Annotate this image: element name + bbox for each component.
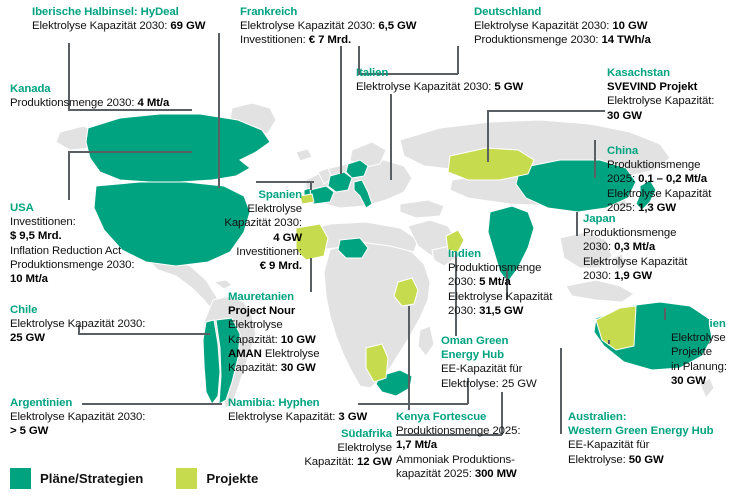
callout-title-spanien: Spanien (170, 188, 302, 202)
leader-iberia (218, 33, 220, 188)
callout-italien: Italien Elektrolyse Kapazität 2030: 5 GW (356, 66, 523, 94)
region-spain-lime (300, 194, 314, 204)
leader-japan (576, 212, 578, 236)
leader-usa (68, 152, 70, 200)
leader-australien-west (560, 348, 562, 434)
callout-line: Elektrolyse Kapazität 2030: (10, 317, 145, 331)
callout-line: 2030: 0,3 Mt/a (583, 240, 687, 254)
leader-italien (390, 94, 392, 180)
callout-kanada: Kanada Produktionsmenge 2030: 4 Mt/a (10, 82, 169, 110)
callout-namibia: Namibia: Hyphen Elektrolyse Kapazität: 3… (228, 396, 367, 424)
leader-spanien (310, 182, 312, 190)
callout-line: Elektrolyse (170, 202, 302, 216)
legend-item-projects: Projekte (176, 468, 282, 489)
callout-line: 2025: 0,1 – 0,2 Mt/a (607, 172, 711, 186)
callout-line: 25 GW (10, 331, 145, 345)
callout-title-iberia: Iberische Halbinsel: HyDeal (32, 5, 205, 19)
callout-argentinien: Argentinien Elektrolyse Kapazität 2030: … (10, 396, 145, 439)
callout-line: 30 GW (671, 374, 727, 388)
callout-usa: USA Investitionen: $ 9,5 Mrd. Inflation … (10, 201, 134, 286)
callout-line: Ammoniak Produktions- (396, 453, 520, 467)
world-map-infographic: Iberische Halbinsel: HyDeal Elektrolyse … (0, 0, 731, 496)
callout-kasachstan: Kasachstan SVEVIND Projekt Elektrolyse K… (607, 66, 714, 123)
callout-title-mauretanien: Mauretanien (228, 290, 319, 304)
callout-line: Elektrolyse: 50 GW (568, 453, 714, 467)
callout-line: EE-Kapazität für (568, 438, 714, 452)
callout-title-australien-ost: Australien (671, 317, 727, 331)
callout-line: Produktionsmenge (583, 226, 687, 240)
leader-usa-h (68, 151, 192, 153)
callout-oman: Oman Green Energy Hub EE-Kapazität für E… (441, 334, 537, 391)
callout-line: EE-Kapazität für (441, 362, 537, 376)
legend: Pläne/Strategien Projekte (10, 468, 282, 489)
callout-line: Elektrolyse Kapazität: 3 GW (228, 410, 367, 424)
leader-australien-ost (664, 308, 666, 320)
callout-line: 1,7 Mt/a (396, 438, 520, 452)
legend-label-plans: Pläne/Strategien (40, 471, 143, 486)
callout-line: AMAN Elektrolyse (228, 347, 319, 361)
callout-chile: Chile Elektrolyse Kapazität 2030: 25 GW (10, 303, 145, 346)
callout-line: Kapazität: 30 GW (228, 361, 319, 375)
callout-line: $ 9,5 Mrd. (10, 229, 134, 243)
legend-label-projects: Projekte (206, 471, 258, 486)
callout-line: Elektrolyse Kapazität (607, 187, 711, 201)
callout-line: Elektrolyse Kapazität 2030: 5 GW (356, 80, 523, 94)
callout-china: China Produktionsmenge 2025: 0,1 – 0,2 M… (607, 144, 711, 215)
callout-line: Elektrolyse Kapazität: (607, 94, 714, 108)
callout-title-suedafrika: Südafrika (250, 427, 392, 441)
callout-title-italien: Italien (356, 66, 523, 80)
callout-line: Produktionsmenge (448, 261, 552, 275)
leader-namibia (358, 403, 468, 405)
callout-title-kasachstan: Kasachstan (607, 66, 714, 80)
callout-line: Inflation Reduction Act (10, 244, 134, 258)
leader-kenya (408, 306, 410, 410)
callout-title-deutschland: Deutschland (474, 5, 651, 19)
callout-title-oman: Oman Green (441, 334, 537, 348)
callout-frankreich: Frankreich Elektrolyse Kapazität 2030: 6… (240, 5, 416, 48)
callout-line: 2030: 31,5 GW (448, 304, 552, 318)
callout-deutschland: Deutschland Elektrolyse Kapazität 2030: … (474, 5, 651, 48)
callout-line: 2030: 5 Mt/a (448, 275, 552, 289)
callout-title-frankreich: Frankreich (240, 5, 416, 19)
callout-line: 2030: 1,9 GW (583, 269, 687, 283)
callout-line: kapazität 2025: 300 MW (396, 467, 520, 481)
callout-line: Elektrolyse (250, 441, 392, 455)
country-canada (86, 114, 270, 182)
callout-title-china: China (607, 144, 711, 158)
callout-line: Produktionsmenge 2030: (10, 258, 134, 272)
callout-australien-ost: Australien Elektrolyse Projekte in Planu… (671, 317, 727, 388)
callout-line: Elektrolyse Kapazität 2030: (10, 410, 145, 424)
callout-indien: Indien Produktionsmenge 2030: 5 Mt/a Ele… (448, 247, 552, 318)
callout-line: € 9 Mrd. (170, 259, 302, 273)
leader-china (594, 140, 596, 178)
callout-line: Elektrolyse (228, 318, 319, 332)
leader-kasachstan-h (487, 110, 605, 112)
callout-subtitle-kasachstan: SVEVIND Projekt (607, 80, 714, 94)
callout-line: Investitionen: (10, 215, 134, 229)
callout-subtitle-mauretanien: Project Nour (228, 304, 319, 318)
callout-line: Investitionen: (170, 245, 302, 259)
legend-item-plans: Pläne/Strategien (10, 468, 167, 489)
callout-line: in Planung: (671, 360, 727, 374)
callout-title-kanada: Kanada (10, 82, 169, 96)
callout-line: Elektrolyse (671, 331, 727, 345)
legend-swatch-plans (10, 468, 31, 489)
callout-line: Elektrolyse Kapazität 2030: 69 GW (32, 19, 205, 33)
callout-line: Elektrolyse Kapazität 2030: 6,5 GW (240, 19, 416, 33)
callout-title-japan: Japan (583, 212, 687, 226)
callout-line: Kapazität: 10 GW (228, 333, 319, 347)
callout-japan: Japan Produktionsmenge 2030: 0,3 Mt/a El… (583, 212, 687, 283)
callout-mauretanien: Mauretanien Project Nour Elektrolyse Kap… (228, 290, 319, 375)
callout-line: Investitionen: € 7 Mrd. (240, 33, 416, 47)
callout-suedafrika: Südafrika Elektrolyse Kapazität: 12 GW (250, 427, 392, 470)
callout-line: 10 Mt/a (10, 272, 134, 286)
callout-line: Elektrolyse Kapazität 2030: 10 GW (474, 19, 651, 33)
leader-frankreich (340, 46, 342, 174)
leader-spanien-h (256, 181, 314, 183)
callout-line: > 5 GW (10, 424, 145, 438)
callout-title-namibia: Namibia: Hyphen (228, 396, 367, 410)
callout-line: Elektrolyse Kapazität (583, 255, 687, 269)
callout-australien-west: Australien: Western Green Energy Hub EE-… (568, 410, 714, 467)
callout-title2-australien-west: Western Green Energy Hub (568, 424, 714, 438)
callout-title-australien-west: Australien: (568, 410, 714, 424)
callout-iberia: Iberische Halbinsel: HyDeal Elektrolyse … (32, 5, 205, 33)
leader-australien-west2 (608, 340, 610, 344)
callout-line: Elektrolyse Kapazität (448, 290, 552, 304)
callout-spanien: Spanien Elektrolyse Kapazität 2030: 4 GW… (170, 188, 302, 273)
callout-line: Projekte (671, 345, 727, 359)
leader-mauretanien (310, 258, 312, 292)
callout-line: 4 GW (170, 231, 302, 245)
callout-kenya: Kenya Fortescue Produktionsmenge 2025: 1… (396, 410, 520, 481)
callout-title-chile: Chile (10, 303, 145, 317)
callout-title2-oman: Energy Hub (441, 348, 537, 362)
callout-title-indien: Indien (448, 247, 552, 261)
callout-line: Produktionsmenge (607, 158, 711, 172)
callout-line: 30 GW (607, 109, 714, 123)
callout-line: Elektrolyse: 25 GW (441, 377, 537, 391)
callout-line: Kapazität 2030: (170, 216, 302, 230)
callout-title-usa: USA (10, 201, 134, 215)
callout-line: Produktionsmenge 2030: 14 TWh/a (474, 33, 651, 47)
leader-kasachstan (487, 110, 489, 162)
callout-line: Produktionsmenge 2030: 4 Mt/a (10, 96, 169, 110)
callout-title-kenya: Kenya Fortescue (396, 410, 520, 424)
legend-swatch-projects (176, 468, 197, 489)
callout-title-argentinien: Argentinien (10, 396, 145, 410)
callout-line: Produktionsmenge 2025: (396, 424, 520, 438)
